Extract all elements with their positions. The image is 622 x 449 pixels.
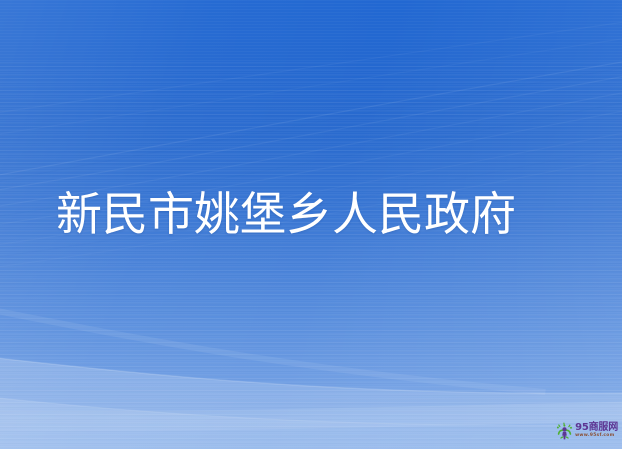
page-title: 新民市姚堡乡人民政府 <box>56 188 516 240</box>
watermark-text: 95商服网 www.95sf.com <box>575 423 618 438</box>
sprout-person-icon <box>556 422 573 440</box>
watermark: 95商服网 www.95sf.com <box>556 422 618 440</box>
watermark-url: www.95sf.com <box>575 434 614 438</box>
watermark-title: 95商服网 <box>575 423 618 433</box>
government-banner: 新民市姚堡乡人民政府 <box>0 0 622 449</box>
